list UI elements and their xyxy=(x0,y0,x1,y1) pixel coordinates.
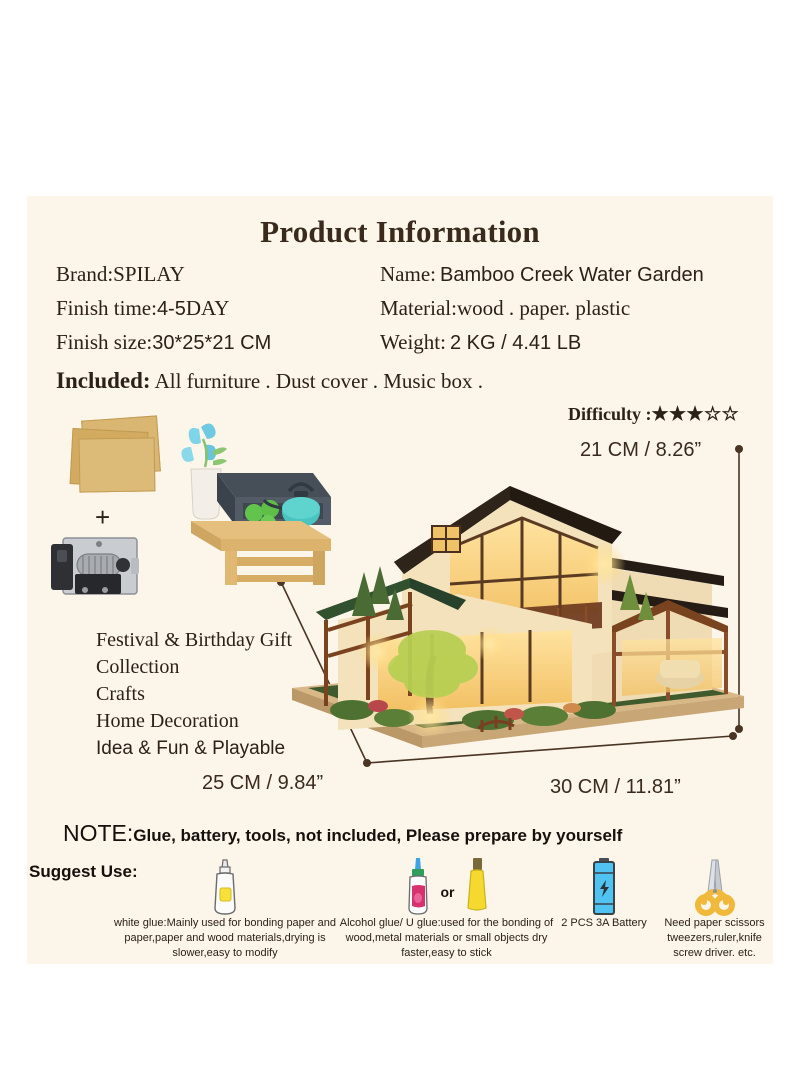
alcohol-glue-caption: Alcohol glue/ U glue:used for the bondin… xyxy=(334,916,559,961)
spec-finish-time: Finish time:4-5DAY xyxy=(56,296,229,321)
difficulty-label: Difficulty : xyxy=(568,404,651,424)
yellow-glue-tube-icon xyxy=(463,858,491,916)
spec-finish-time-value: 4-5 xyxy=(157,298,186,320)
spec-brand: Brand:SPILAY xyxy=(56,262,185,287)
blue-flowers xyxy=(181,423,227,467)
battery-icon-group xyxy=(550,856,658,916)
battery-icon xyxy=(589,858,619,916)
scissors-icon-group xyxy=(652,856,773,916)
spec-included-label: Included: xyxy=(56,368,151,393)
spec-name: Name: Bamboo Creek Water Garden xyxy=(380,262,704,287)
white-glue-caption: white glue:Mainly used for bonding paper… xyxy=(105,916,345,961)
plus-sign: + xyxy=(95,502,110,533)
assembled-dollhouse-photo xyxy=(282,444,752,774)
spec-material-value: wood . paper. plastic xyxy=(457,296,630,320)
white-glue-icon-group xyxy=(105,856,345,916)
difficulty-stars: ★★★☆☆ xyxy=(651,404,739,425)
spec-finish-time-label: Finish time: xyxy=(56,296,157,320)
spec-material-label: Material: xyxy=(380,296,457,320)
spec-material: Material:wood . paper. plastic xyxy=(380,296,630,321)
dimension-width-label: 30 CM / 11.81” xyxy=(550,776,681,799)
scissors-icon xyxy=(694,858,736,916)
note-text: Glue, battery, tools, not included, Plea… xyxy=(133,826,622,845)
usage-list: Festival & Birthday Gift Collection Craf… xyxy=(56,627,292,762)
or-separator: or xyxy=(441,884,455,916)
spec-finish-size-value: 30*25*21 CM xyxy=(152,332,271,354)
spec-finish-size: Finish size:30*25*21 CM xyxy=(56,330,271,355)
product-information-panel: Product Information Brand:SPILAY Finish … xyxy=(27,196,773,964)
spec-finish-time-suffix: DAY xyxy=(186,296,230,320)
usage-item: Collection xyxy=(96,654,292,681)
alcohol-glue-icon-group: or xyxy=(334,856,559,916)
music-box-mechanism-photo xyxy=(47,530,152,602)
battery-caption: 2 PCS 3A Battery xyxy=(550,916,658,931)
spec-included-value: All furniture . Dust cover . Music box . xyxy=(155,369,483,393)
note-label: NOTE: xyxy=(63,820,133,846)
spec-name-label: Name: xyxy=(380,262,436,286)
white-glue-bottle-icon xyxy=(208,858,242,916)
usage-item: Idea & Fun & Playable xyxy=(96,735,292,762)
usage-item: Crafts xyxy=(96,681,292,708)
spec-included: Included: All furniture . Dust cover . M… xyxy=(56,368,483,394)
spec-name-value: Bamboo Creek Water Garden xyxy=(440,264,704,286)
difficulty-rating: Difficulty :★★★☆☆ xyxy=(568,403,739,426)
suggest-use-white-glue: white glue:Mainly used for bonding paper… xyxy=(105,856,345,961)
spec-brand-label: Brand: xyxy=(56,262,113,286)
usage-item: Festival & Birthday Gift xyxy=(96,627,292,654)
suggest-use-battery: 2 PCS 3A Battery xyxy=(550,856,658,931)
page-title: Product Information xyxy=(27,214,773,250)
suggest-use-alcohol-glue: or Alcohol glue/ U glue:used for the bon… xyxy=(334,856,559,961)
spec-weight-label: Weight: xyxy=(380,330,446,354)
dimension-depth-label: 25 CM / 9.84” xyxy=(202,772,323,795)
suggest-use-tools: Need paper scissors tweezers,ruler,knife… xyxy=(652,856,773,961)
spec-weight-value: 2 KG / 4.41 LB xyxy=(450,332,581,354)
note-line: NOTE:Glue, battery, tools, not included,… xyxy=(63,820,622,847)
tools-caption: Need paper scissors tweezers,ruler,knife… xyxy=(652,916,773,961)
spec-brand-value: SPILAY xyxy=(113,262,185,286)
spec-weight: Weight: 2 KG / 4.41 LB xyxy=(380,330,581,355)
usage-item: Home Decoration xyxy=(96,708,292,735)
alcohol-glue-bottle-icon xyxy=(403,858,433,916)
spec-finish-size-label: Finish size: xyxy=(56,330,152,354)
